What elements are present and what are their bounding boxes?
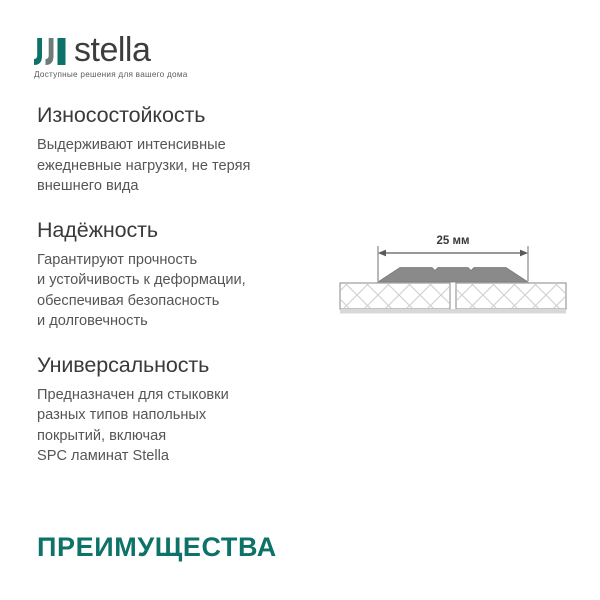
logo-wordmark: stella — [74, 35, 150, 65]
dimension-label: 25 мм — [436, 235, 469, 247]
floor-transition-profile-cross-section: 25 мм — [336, 232, 568, 319]
feature-heading: Универсальность — [37, 353, 337, 378]
feature-heading: Надёжность — [37, 218, 337, 243]
feature-block: Надёжность Гарантируют прочность и устой… — [37, 218, 337, 332]
feature-block: Универсальность Предназначен для стыковк… — [37, 353, 337, 467]
feature-heading: Износостойкость — [37, 103, 337, 128]
feature-body: Гарантируют прочность и устойчивость к д… — [37, 250, 337, 332]
logo-tagline: Доступные решения для вашего дома — [34, 70, 188, 79]
feature-body: Выдерживают интенсивные ежедневные нагру… — [37, 135, 337, 197]
feature-list: Износостойкость Выдерживают интенсивные … — [37, 103, 337, 488]
stella-bars-icon — [34, 38, 74, 65]
footer-banner: ПРЕИМУЩЕСТВА — [37, 532, 277, 563]
brand-logo: stella — [34, 38, 150, 65]
feature-block: Износостойкость Выдерживают интенсивные … — [37, 103, 337, 197]
feature-body: Предназначен для стыковки разных типов н… — [37, 385, 337, 467]
